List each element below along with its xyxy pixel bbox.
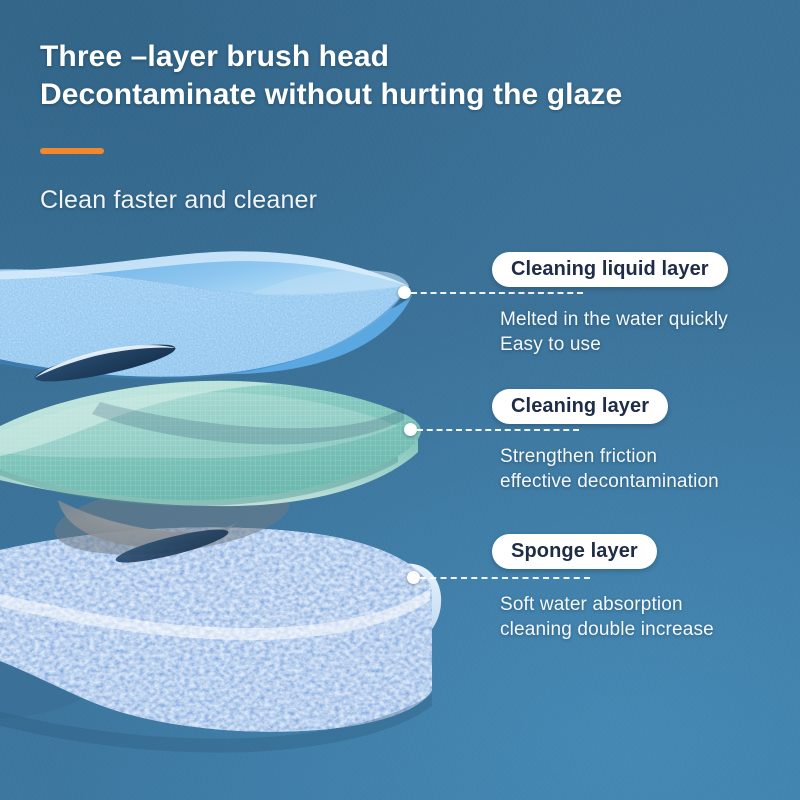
callout-description: Strengthen friction effective decontamin… (500, 444, 719, 494)
callout-leader-line (417, 429, 579, 431)
callout-description-line-1: Soft water absorption (500, 592, 714, 617)
subheadline: Clean faster and cleaner (40, 186, 317, 215)
callout-description: Melted in the water quickly Easy to use (500, 307, 728, 357)
accent-divider (40, 148, 104, 154)
callout-description-line-2: cleaning double increase (500, 617, 714, 642)
callout-description-line-1: Strengthen friction (500, 444, 719, 469)
headline-line-1: Three –layer brush head (40, 38, 760, 76)
callout-description-line-2: effective decontamination (500, 469, 719, 494)
callout-description: Soft water absorption cleaning double in… (500, 592, 714, 642)
callout-marker-dot (404, 423, 417, 436)
callout-label-pill[interactable]: Cleaning liquid layer (492, 252, 728, 287)
callout-description-line-2: Easy to use (500, 332, 728, 357)
callout-leader-line (411, 292, 583, 294)
callout-marker-dot (407, 571, 420, 584)
headline-line-2: Decontaminate without hurting the glaze (40, 76, 760, 114)
infographic-canvas: Three –layer brush head Decontaminate wi… (0, 0, 800, 800)
headline-block: Three –layer brush head Decontaminate wi… (40, 38, 760, 114)
callout-marker-dot (398, 286, 411, 299)
callout-leader-line (420, 577, 590, 579)
callout-description-line-1: Melted in the water quickly (500, 307, 728, 332)
callout-label-pill[interactable]: Cleaning layer (492, 389, 668, 424)
background-gradient (0, 0, 800, 800)
callout-label-pill[interactable]: Sponge layer (492, 534, 657, 569)
